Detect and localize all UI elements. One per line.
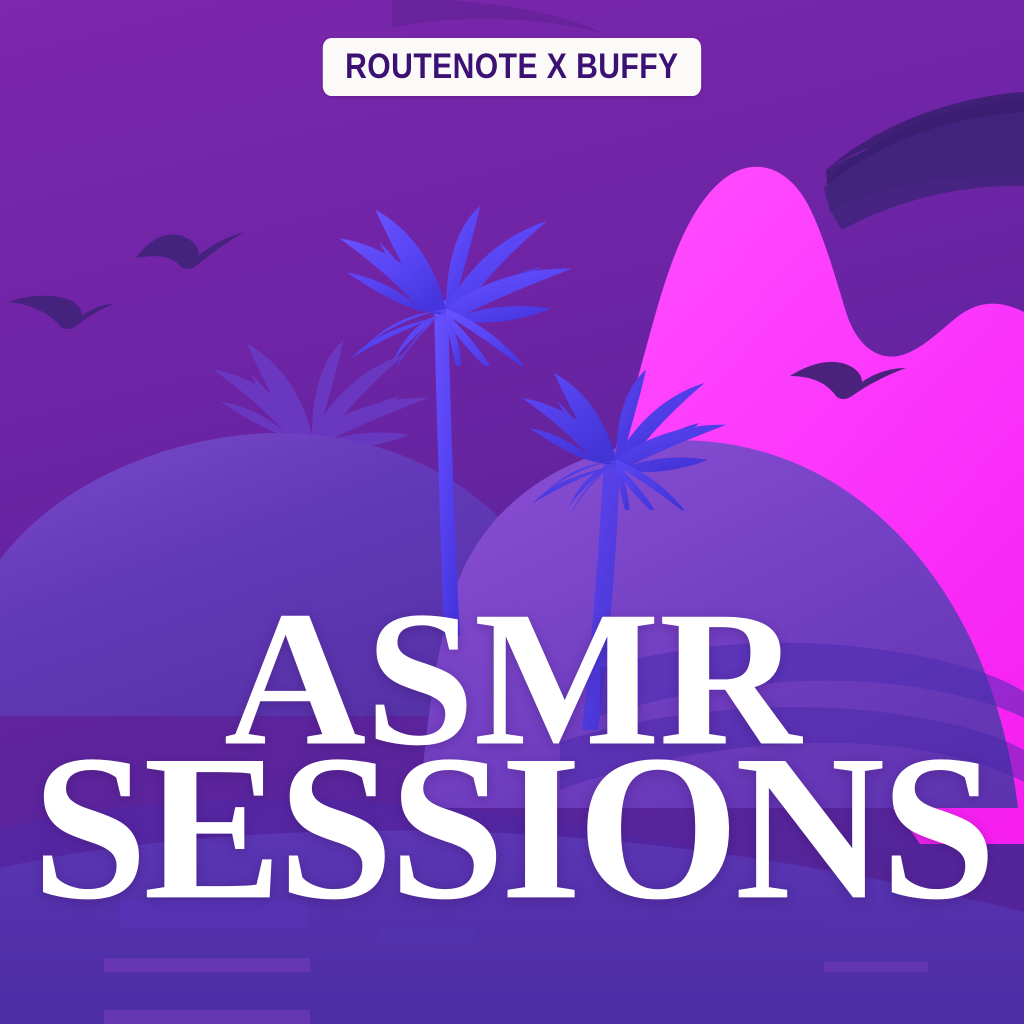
collab-badge: ROUTENOTE X BUFFY <box>323 38 701 96</box>
album-title: ASMR SESSIONS <box>0 596 1024 913</box>
album-title-line-2: SESSIONS <box>0 735 1024 922</box>
album-artwork: ROUTENOTE X BUFFY ASMR SESSIONS <box>0 0 1024 1024</box>
collab-badge-container: ROUTENOTE X BUFFY <box>0 38 1024 96</box>
